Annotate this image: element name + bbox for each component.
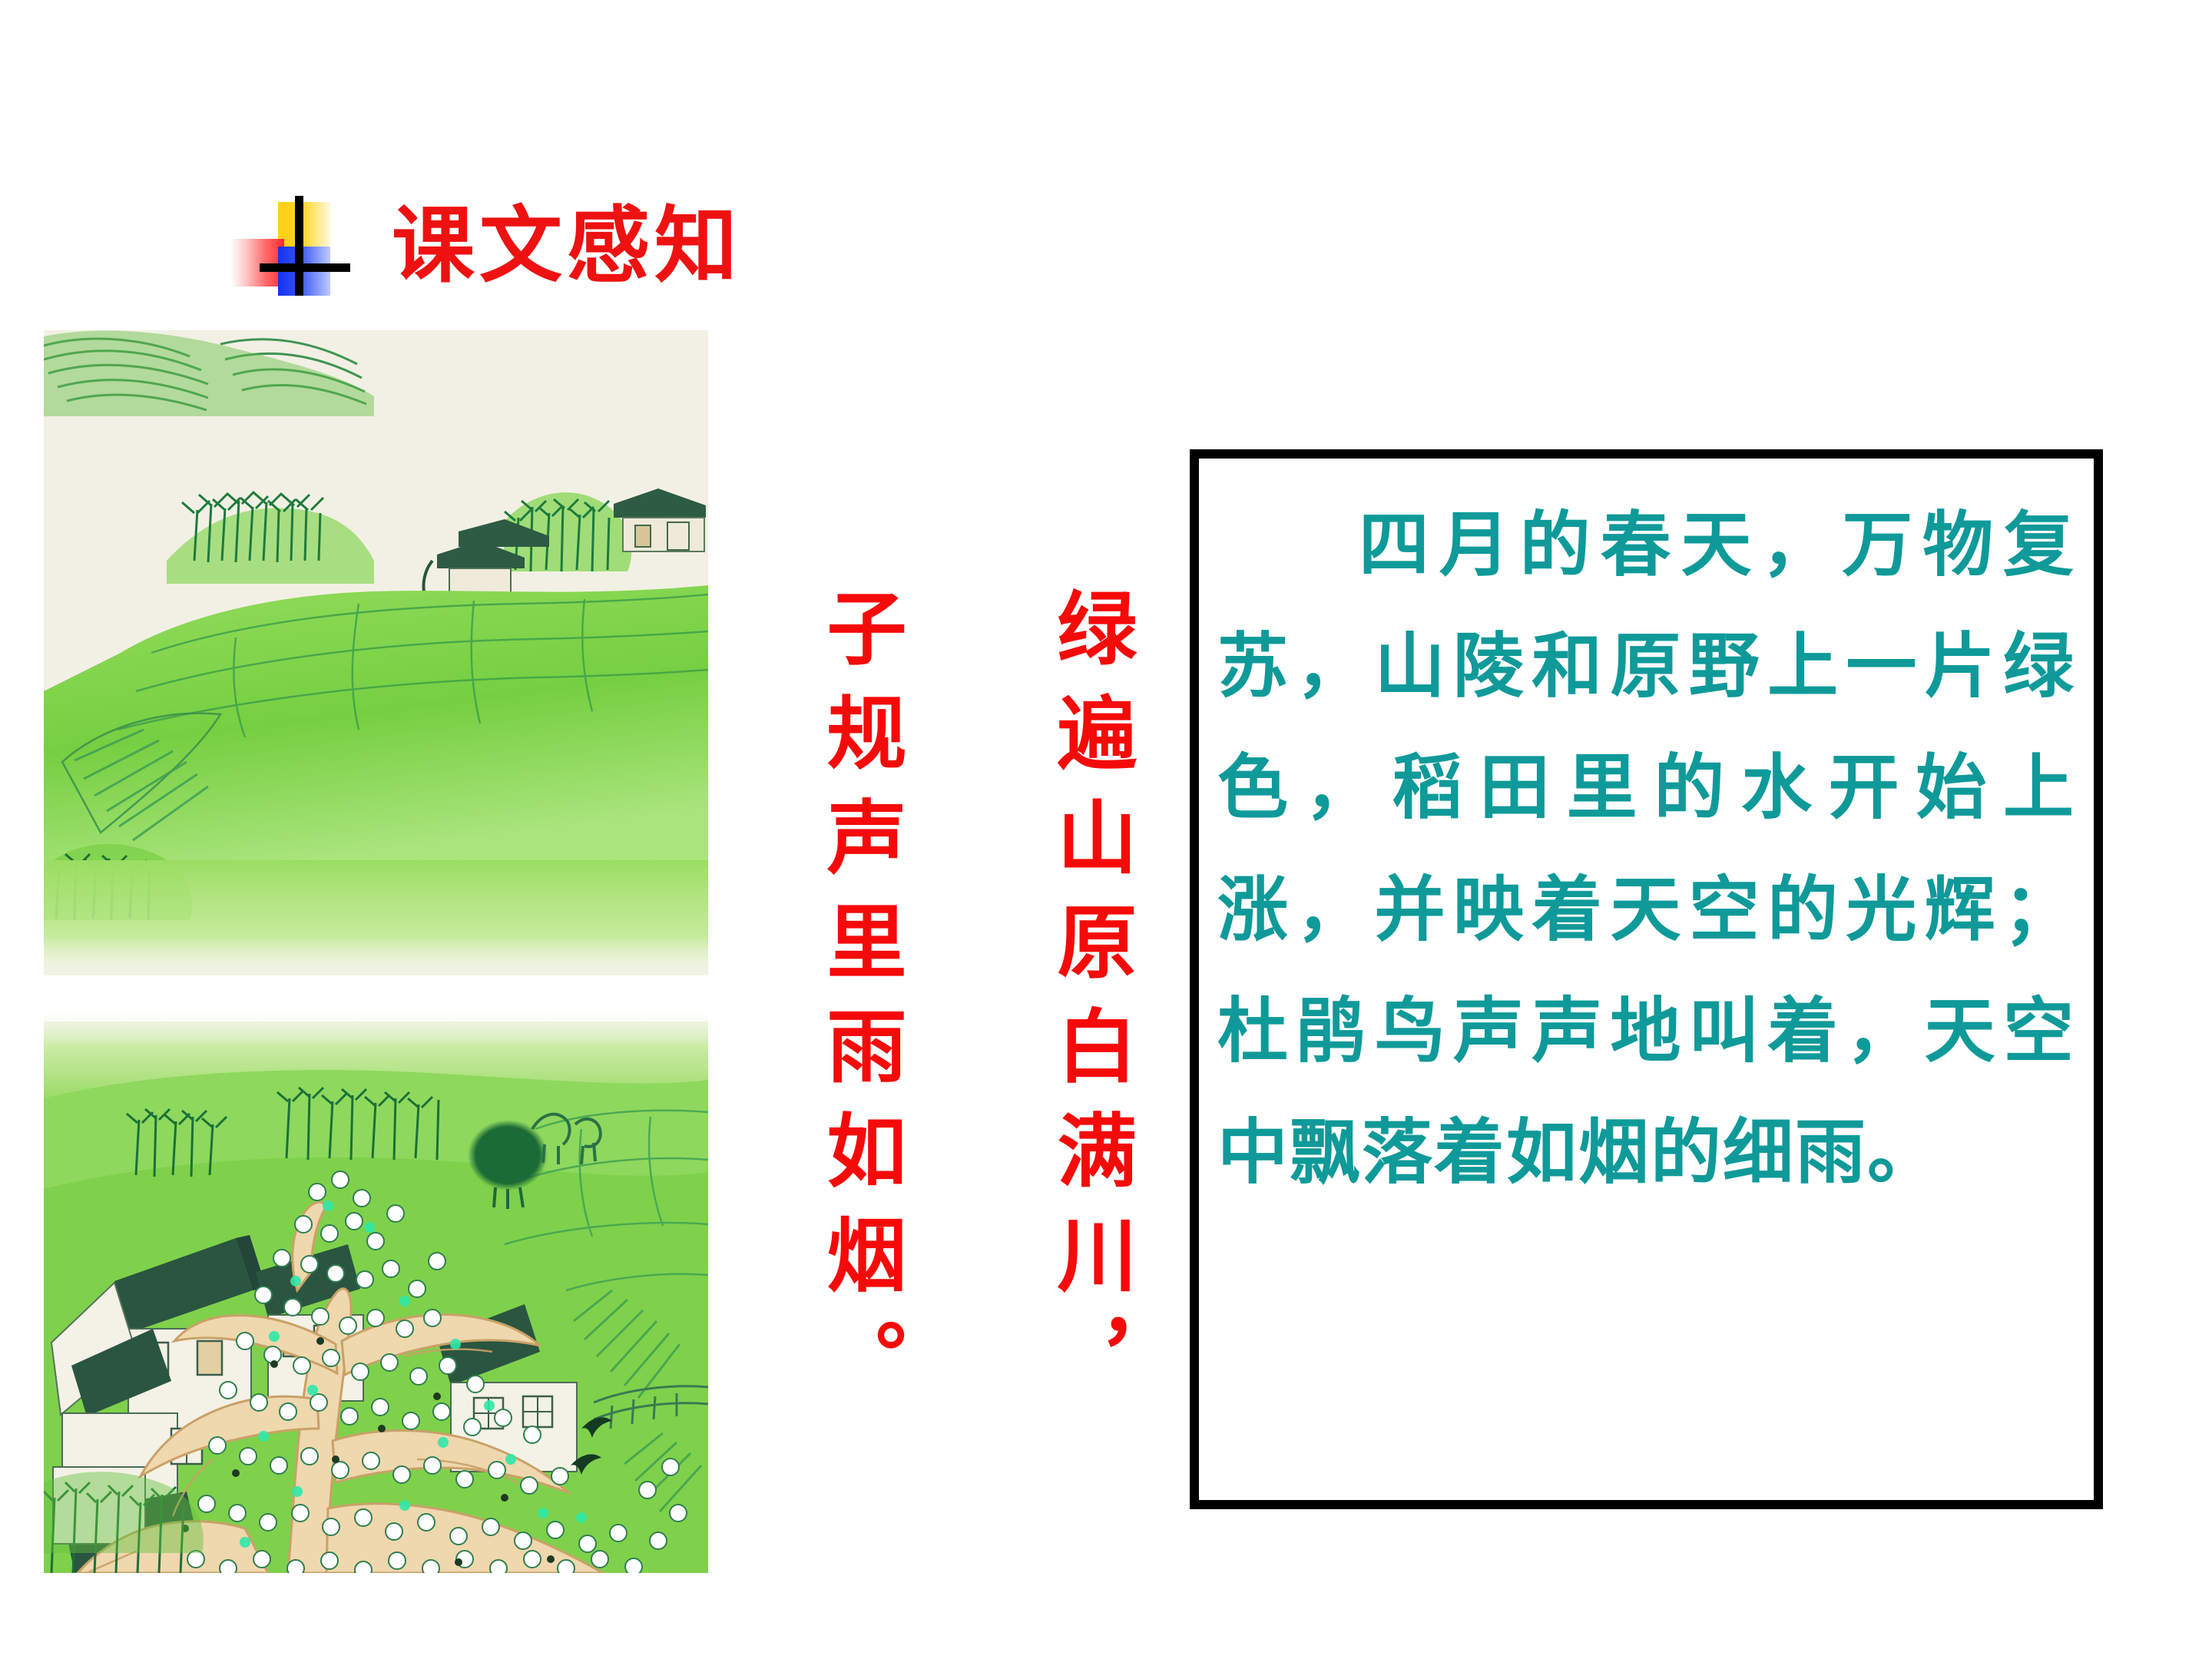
slide-title-row: 课文感知 (230, 196, 742, 296)
icon-cross-horizontal-bar (260, 263, 350, 272)
poem-column-line-1: 绿遍山原白满川， (1035, 498, 1151, 1512)
lower-village (44, 1070, 708, 1573)
icon-square-yellow (278, 202, 330, 253)
icon-square-red (230, 239, 284, 286)
prose-translation-text: 四月的春天，万物复苏，山陵和原野上一片绿色，稻田里的水开始上涨，并映着天空的光辉… (1217, 485, 2075, 1214)
prose-translation-box: 四月的春天，万物复苏，山陵和原野上一片绿色，稻田里的水开始上涨，并映着天空的光辉… (1190, 449, 2103, 1509)
countryside-illustration (44, 330, 708, 1573)
poem-column-line-2: 子规声里雨如烟。 (805, 498, 920, 1512)
color-squares-cross-icon (230, 196, 330, 296)
icon-cross-vertical-bar (295, 196, 303, 296)
round-tree (468, 1120, 548, 1190)
page-title: 课文感知 (392, 204, 742, 287)
countryside-illustration-art (44, 330, 708, 1573)
